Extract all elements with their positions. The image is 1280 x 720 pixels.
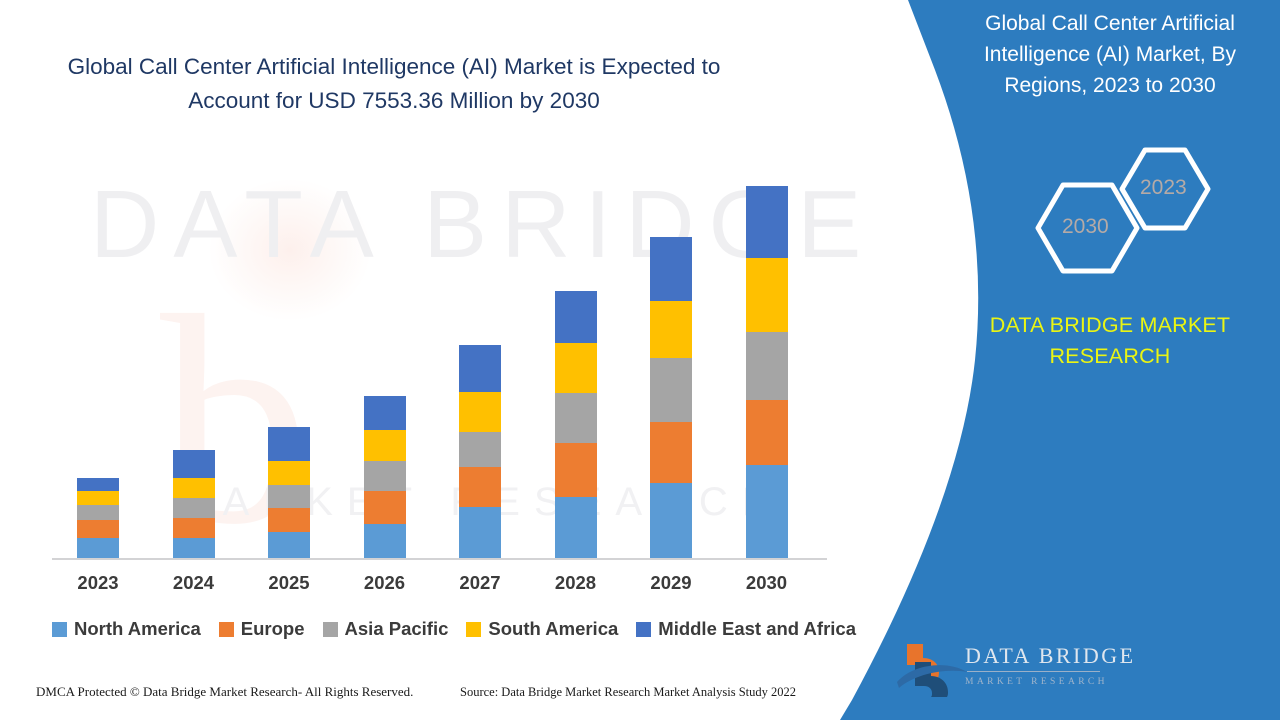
data-bridge-logo-icon bbox=[895, 638, 975, 698]
bar-segment bbox=[746, 332, 788, 400]
bar-segment bbox=[459, 507, 501, 558]
legend-label: North America bbox=[74, 618, 201, 640]
bar-segment bbox=[77, 538, 119, 558]
bar-column bbox=[77, 478, 119, 558]
x-axis-label: 2030 bbox=[727, 572, 807, 594]
x-axis-label: 2023 bbox=[58, 572, 138, 594]
x-axis-label: 2025 bbox=[249, 572, 329, 594]
logo-divider bbox=[967, 671, 1100, 672]
bar-segment bbox=[268, 461, 310, 485]
bar-segment bbox=[77, 491, 119, 505]
bar-column bbox=[268, 427, 310, 558]
bar-segment bbox=[173, 518, 215, 538]
x-axis-label: 2027 bbox=[440, 572, 520, 594]
legend-swatch-icon bbox=[52, 622, 67, 637]
bar-segment bbox=[173, 478, 215, 498]
bar-segment bbox=[650, 301, 692, 358]
chart-title: Global Call Center Artificial Intelligen… bbox=[34, 50, 754, 118]
bar-segment bbox=[459, 345, 501, 392]
bar-segment bbox=[173, 538, 215, 558]
bar-segment bbox=[459, 467, 501, 507]
bar-segment bbox=[268, 508, 310, 532]
bar-segment bbox=[746, 186, 788, 258]
legend-label: Middle East and Africa bbox=[658, 618, 856, 640]
bar-segment bbox=[364, 524, 406, 558]
bar-segment bbox=[364, 430, 406, 461]
company-logo-text: DATA BRIDGE MARKET RESEARCH bbox=[965, 644, 1136, 688]
bar-segment bbox=[650, 358, 692, 422]
hexagon-graphic: 2023 2030 bbox=[950, 145, 1270, 305]
legend-item[interactable]: North America bbox=[52, 618, 201, 640]
legend-label: South America bbox=[488, 618, 618, 640]
bar-segment bbox=[650, 483, 692, 558]
legend-swatch-icon bbox=[636, 622, 651, 637]
logo-tagline: MARKET RESEARCH bbox=[965, 676, 1136, 688]
bar-column bbox=[364, 396, 406, 558]
bar-column bbox=[173, 450, 215, 558]
bar-segment bbox=[173, 450, 215, 478]
x-axis-label: 2029 bbox=[631, 572, 711, 594]
bar-column bbox=[746, 186, 788, 558]
hexagon-label-2023: 2023 bbox=[1140, 176, 1187, 200]
panel-brand-line2: RESEARCH bbox=[1049, 344, 1170, 368]
legend-item[interactable]: South America bbox=[466, 618, 618, 640]
bar-segment bbox=[268, 485, 310, 508]
bar-segment bbox=[555, 291, 597, 343]
dmca-notice: DMCA Protected © Data Bridge Market Rese… bbox=[36, 684, 413, 700]
bar-segment bbox=[268, 427, 310, 461]
bar-segment bbox=[459, 432, 501, 467]
bar-segment bbox=[746, 400, 788, 465]
bar-column bbox=[650, 237, 692, 558]
bar-segment bbox=[746, 258, 788, 332]
x-axis-label: 2026 bbox=[345, 572, 425, 594]
bar-column bbox=[555, 291, 597, 558]
legend-swatch-icon bbox=[323, 622, 338, 637]
bar-segment bbox=[364, 491, 406, 524]
bar-segment bbox=[459, 392, 501, 432]
bar-segment bbox=[555, 343, 597, 393]
bar-segment bbox=[746, 465, 788, 558]
legend-item[interactable]: Europe bbox=[219, 618, 305, 640]
chart-legend: North AmericaEuropeAsia PacificSouth Ame… bbox=[52, 616, 842, 642]
bar-segment bbox=[77, 505, 119, 520]
hexagon-icon bbox=[950, 145, 1270, 305]
bar-segment bbox=[555, 443, 597, 497]
x-axis-label: 2024 bbox=[154, 572, 234, 594]
infographic-root: b DATA BRIDGE MARKET RESEARCH Global Cal… bbox=[0, 0, 1280, 720]
x-axis-line bbox=[52, 558, 827, 560]
chart-plot-area bbox=[52, 160, 827, 560]
hexagon-label-2030: 2030 bbox=[1062, 215, 1109, 239]
source-note: Source: Data Bridge Market Research Mark… bbox=[460, 685, 796, 700]
legend-swatch-icon bbox=[466, 622, 481, 637]
logo-name: DATA BRIDGE bbox=[965, 644, 1136, 668]
panel-brand-line1: DATA BRIDGE MARKET bbox=[990, 313, 1231, 337]
x-axis-label: 2028 bbox=[536, 572, 616, 594]
bar-segment bbox=[650, 422, 692, 483]
bar-segment bbox=[77, 520, 119, 538]
bar-segment bbox=[364, 396, 406, 430]
bar-segment bbox=[364, 461, 406, 491]
panel-brand: DATA BRIDGE MARKET RESEARCH bbox=[950, 310, 1270, 372]
legend-label: Europe bbox=[241, 618, 305, 640]
bar-segment bbox=[555, 497, 597, 558]
bar-segment bbox=[650, 237, 692, 301]
bar-column bbox=[459, 345, 501, 558]
bar-segment bbox=[268, 532, 310, 558]
bar-segment bbox=[555, 393, 597, 443]
legend-label: Asia Pacific bbox=[345, 618, 449, 640]
bar-segment bbox=[173, 498, 215, 518]
bar-segment bbox=[77, 478, 119, 491]
legend-item[interactable]: Middle East and Africa bbox=[636, 618, 856, 640]
legend-swatch-icon bbox=[219, 622, 234, 637]
legend-item[interactable]: Asia Pacific bbox=[323, 618, 449, 640]
x-axis-labels: 20232024202520262027202820292030 bbox=[52, 572, 827, 598]
panel-title: Global Call Center Artificial Intelligen… bbox=[950, 8, 1270, 101]
